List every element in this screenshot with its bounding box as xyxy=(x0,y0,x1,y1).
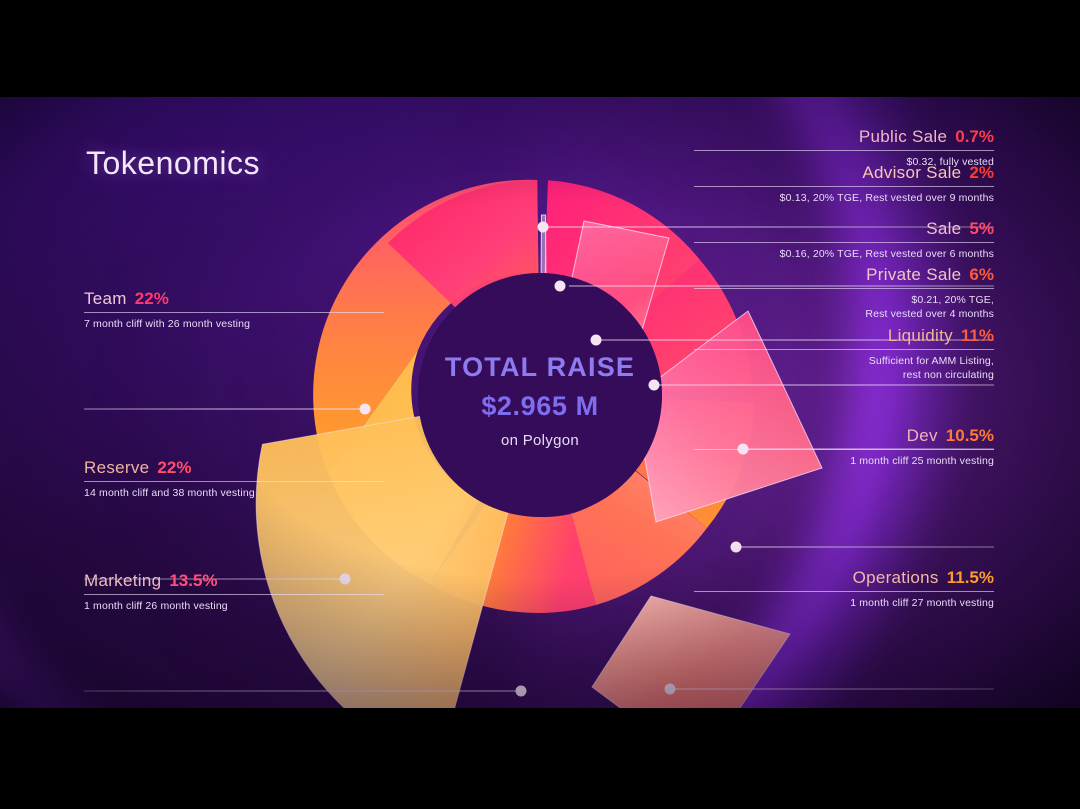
legend-item-advisor-sale[interactable]: Advisor Sale 2% $0.13, 20% TGE, Rest ves… xyxy=(694,163,994,205)
legend-rule-marketing xyxy=(84,594,384,595)
legend-item-private-sale[interactable]: Private Sale 6% $0.21, 20% TGE, Rest ves… xyxy=(694,265,994,321)
slide-canvas: Tokenomics TOTAL RAISE $2.965 M on Polyg… xyxy=(0,97,1080,708)
letterbox-bottom-bar xyxy=(0,708,1080,809)
legend-item-reserve[interactable]: Reserve 22% 14 month cliff and 38 month … xyxy=(84,458,384,500)
legend-label-sale: Sale xyxy=(926,219,961,239)
legend-label-liquidity: Liquidity xyxy=(888,326,953,346)
legend-item-operations[interactable]: Operations 11.5% 1 month cliff 27 month … xyxy=(694,568,994,610)
legend-desc-liquidity-line2: rest non circulating xyxy=(694,368,994,382)
legend-label-team: Team xyxy=(84,289,127,309)
legend-desc-team: 7 month cliff with 26 month vesting xyxy=(84,317,384,331)
legend-rule-team xyxy=(84,312,384,313)
legend-pct-operations: 11.5% xyxy=(947,568,994,588)
legend-label-private-sale: Private Sale xyxy=(866,265,961,285)
letterbox-top-bar xyxy=(0,0,1080,97)
legend-item-sale[interactable]: Sale 5% $0.16, 20% TGE, Rest vested over… xyxy=(694,219,994,261)
legend-pct-public-sale: 0.7% xyxy=(955,127,994,147)
legend-rule-operations xyxy=(694,591,994,592)
legend-rule-reserve xyxy=(84,481,384,482)
legend-item-liquidity[interactable]: Liquidity 11% Sufficient for AMM Listing… xyxy=(694,326,994,382)
legend-rule-dev xyxy=(694,449,994,450)
legend-rule-private-sale xyxy=(694,288,994,289)
total-raise-heading: TOTAL RAISE xyxy=(400,352,680,383)
total-raise-amount: $2.965 M xyxy=(400,391,680,422)
legend-pct-dev: 10.5% xyxy=(946,426,994,446)
legend-label-public-sale: Public Sale xyxy=(859,127,947,147)
legend-rule-sale xyxy=(694,242,994,243)
legend-item-team[interactable]: Team 22% 7 month cliff with 26 month ves… xyxy=(84,289,384,331)
legend-pct-marketing: 13.5% xyxy=(169,571,217,591)
legend-pct-sale: 5% xyxy=(969,219,994,239)
legend-item-dev[interactable]: Dev 10.5% 1 month cliff 25 month vesting xyxy=(694,426,994,468)
legend-desc-dev: 1 month cliff 25 month vesting xyxy=(694,454,994,468)
legend-desc-private-sale-line1: $0.21, 20% TGE, xyxy=(694,293,994,307)
legend-pct-liquidity: 11% xyxy=(961,326,994,346)
legend-label-dev: Dev xyxy=(907,426,938,446)
legend-label-operations: Operations xyxy=(853,568,939,588)
legend-pct-private-sale: 6% xyxy=(969,265,994,285)
legend-label-reserve: Reserve xyxy=(84,458,149,478)
legend-rule-public-sale xyxy=(694,150,994,151)
legend-desc-operations: 1 month cliff 27 month vesting xyxy=(694,596,994,610)
legend-pct-reserve: 22% xyxy=(157,458,191,478)
legend-item-marketing[interactable]: Marketing 13.5% 1 month cliff 26 month v… xyxy=(84,571,384,613)
legend-desc-marketing: 1 month cliff 26 month vesting xyxy=(84,599,384,613)
legend-label-advisor-sale: Advisor Sale xyxy=(862,163,961,183)
legend-desc-private-sale-line2: Rest vested over 4 months xyxy=(694,307,994,321)
legend-pct-advisor-sale: 2% xyxy=(969,163,994,183)
legend-pct-team: 22% xyxy=(135,289,169,309)
page-title: Tokenomics xyxy=(86,145,260,182)
legend-desc-advisor-sale: $0.13, 20% TGE, Rest vested over 9 month… xyxy=(694,191,994,205)
legend-rule-liquidity xyxy=(694,349,994,350)
legend-desc-liquidity-line1: Sufficient for AMM Listing, xyxy=(694,354,994,368)
legend-desc-sale: $0.16, 20% TGE, Rest vested over 6 month… xyxy=(694,247,994,261)
legend-label-marketing: Marketing xyxy=(84,571,161,591)
total-raise-network: on Polygon xyxy=(400,432,680,449)
legend-rule-advisor-sale xyxy=(694,186,994,187)
total-raise-block: TOTAL RAISE $2.965 M on Polygon xyxy=(400,352,680,449)
legend-desc-reserve: 14 month cliff and 38 month vesting xyxy=(84,486,384,500)
